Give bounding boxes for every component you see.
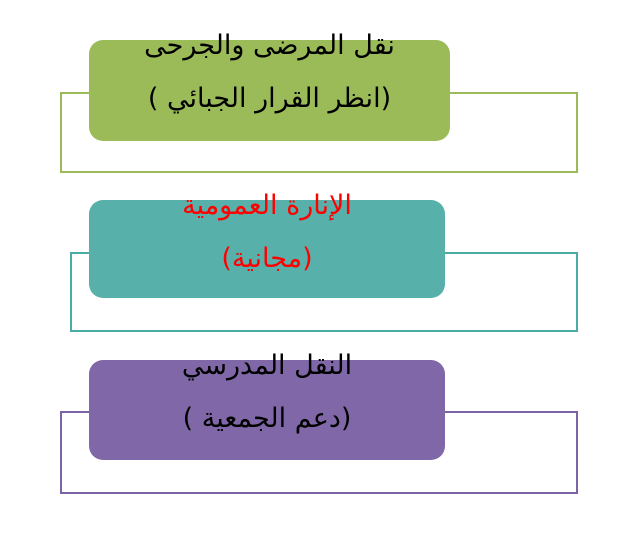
filled-rounded-rectangle-school-transport[interactable] bbox=[89, 360, 445, 460]
filled-rounded-rectangle-transport-patients[interactable] bbox=[89, 40, 450, 141]
filled-rounded-rectangle-public-lighting[interactable] bbox=[89, 200, 445, 298]
diagram-canvas: نقل المرضى والجرحى (انظر القرار الجبائي … bbox=[0, 0, 643, 546]
